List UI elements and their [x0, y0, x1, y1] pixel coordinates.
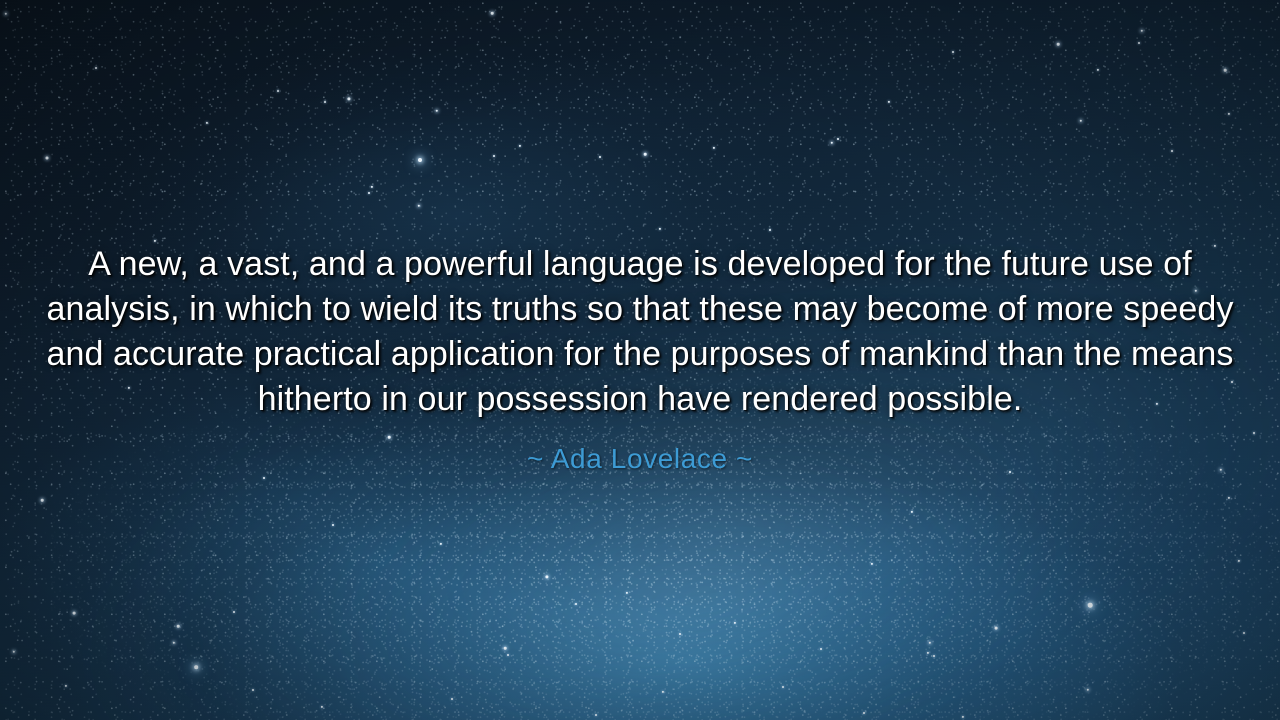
quote-slide: A new, a vast, and a powerful language i…	[0, 0, 1280, 720]
quote-block: A new, a vast, and a powerful language i…	[0, 242, 1280, 476]
quote-attribution: ~ Ada Lovelace ~	[40, 442, 1240, 476]
quote-text: A new, a vast, and a powerful language i…	[40, 242, 1240, 422]
